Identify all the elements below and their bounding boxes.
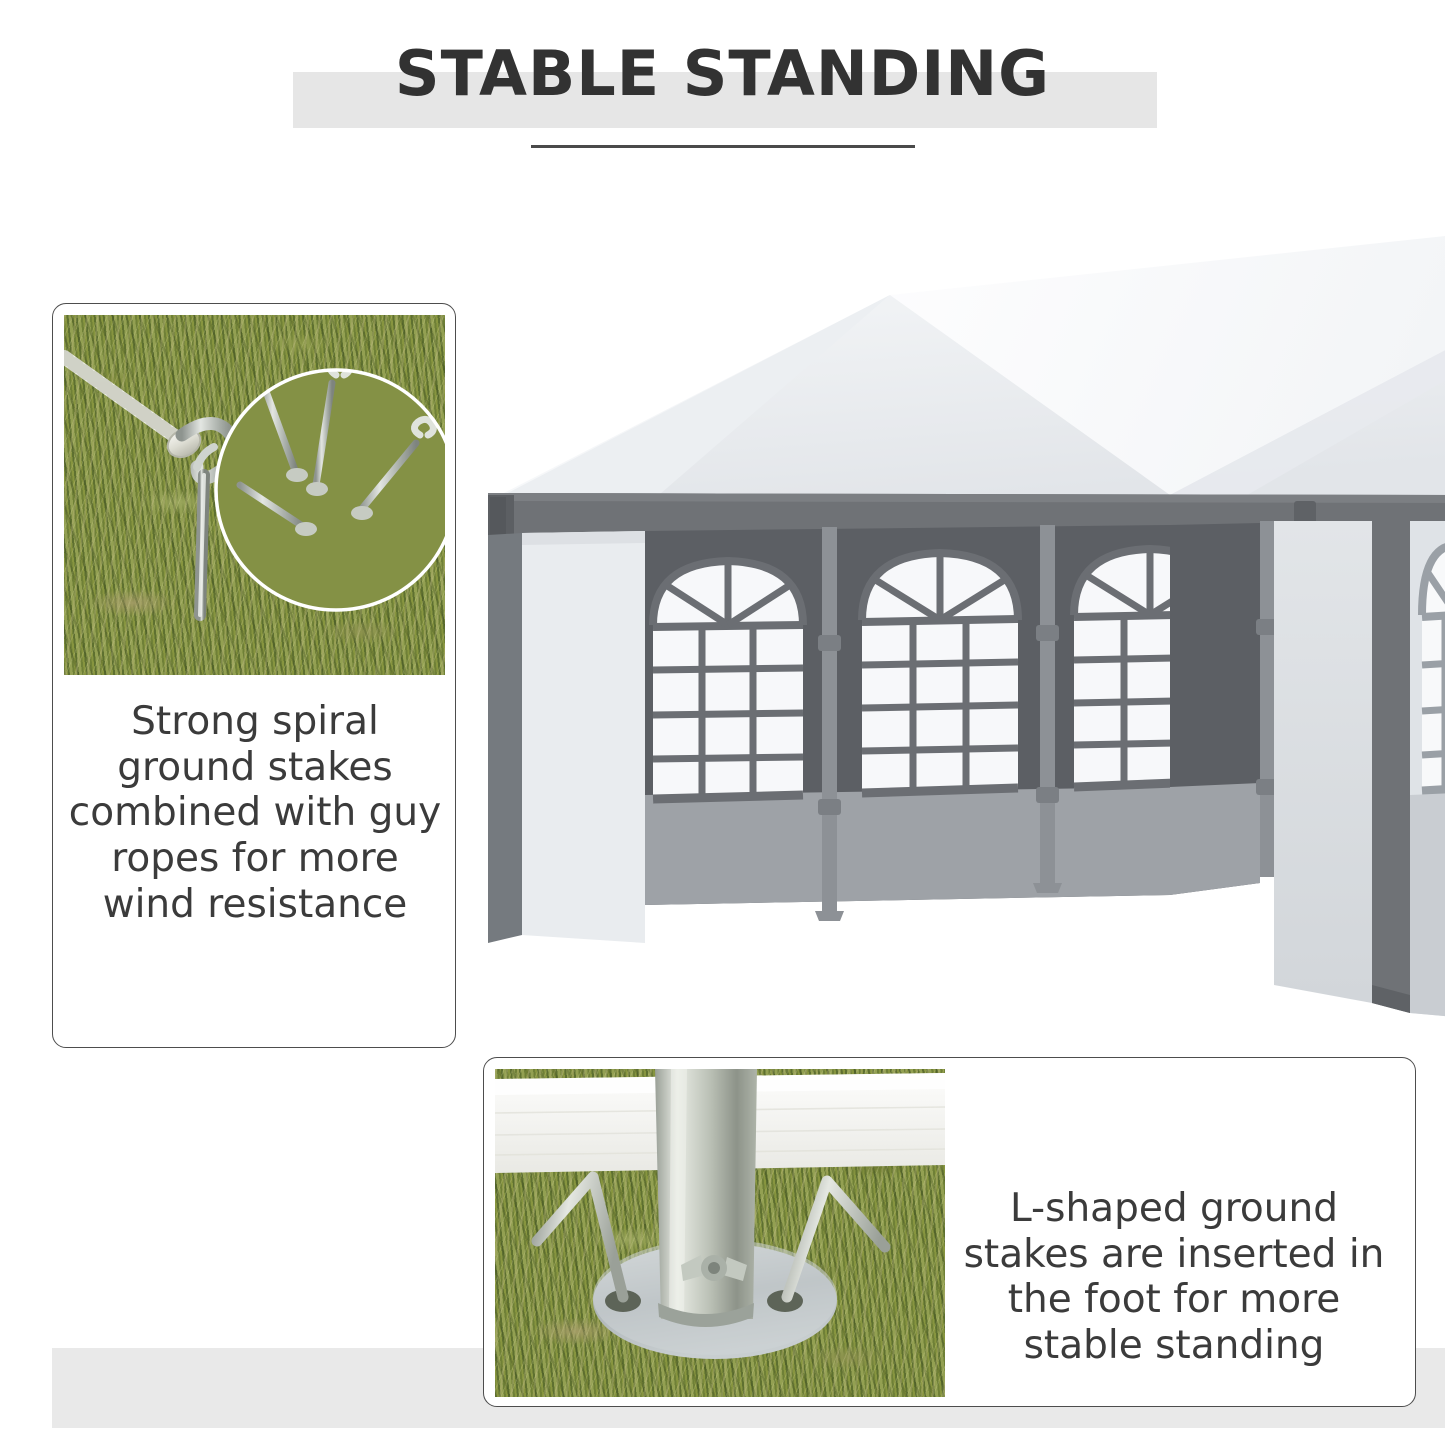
party-tent-illustration xyxy=(470,195,1445,1025)
feature-card-spiral-stake: Strong spiral ground stakes combined wit… xyxy=(52,303,456,1048)
stake-and-rope-overlay xyxy=(64,315,445,675)
arched-window xyxy=(653,561,803,803)
arched-window xyxy=(1422,545,1445,795)
gazebo-foot-plate-with-l-stakes-photo xyxy=(495,1069,945,1397)
feature-caption-spiral-stake: Strong spiral ground stakes combined wit… xyxy=(61,699,449,927)
arched-window xyxy=(862,553,1018,795)
foot-plate-overlay xyxy=(495,1069,945,1397)
title-divider-rule xyxy=(531,145,915,148)
infographic-page: STABLE STANDING xyxy=(0,0,1445,1445)
page-title: STABLE STANDING xyxy=(0,40,1445,108)
tent-svg xyxy=(470,195,1445,1025)
feature-card-l-stake: L-shaped ground stakes are inserted in t… xyxy=(483,1057,1416,1407)
stake-set-inset xyxy=(216,353,445,610)
spiral-ground-stake-in-grass-photo xyxy=(64,315,445,675)
feature-caption-l-stake: L-shaped ground stakes are inserted in t… xyxy=(954,1186,1394,1369)
